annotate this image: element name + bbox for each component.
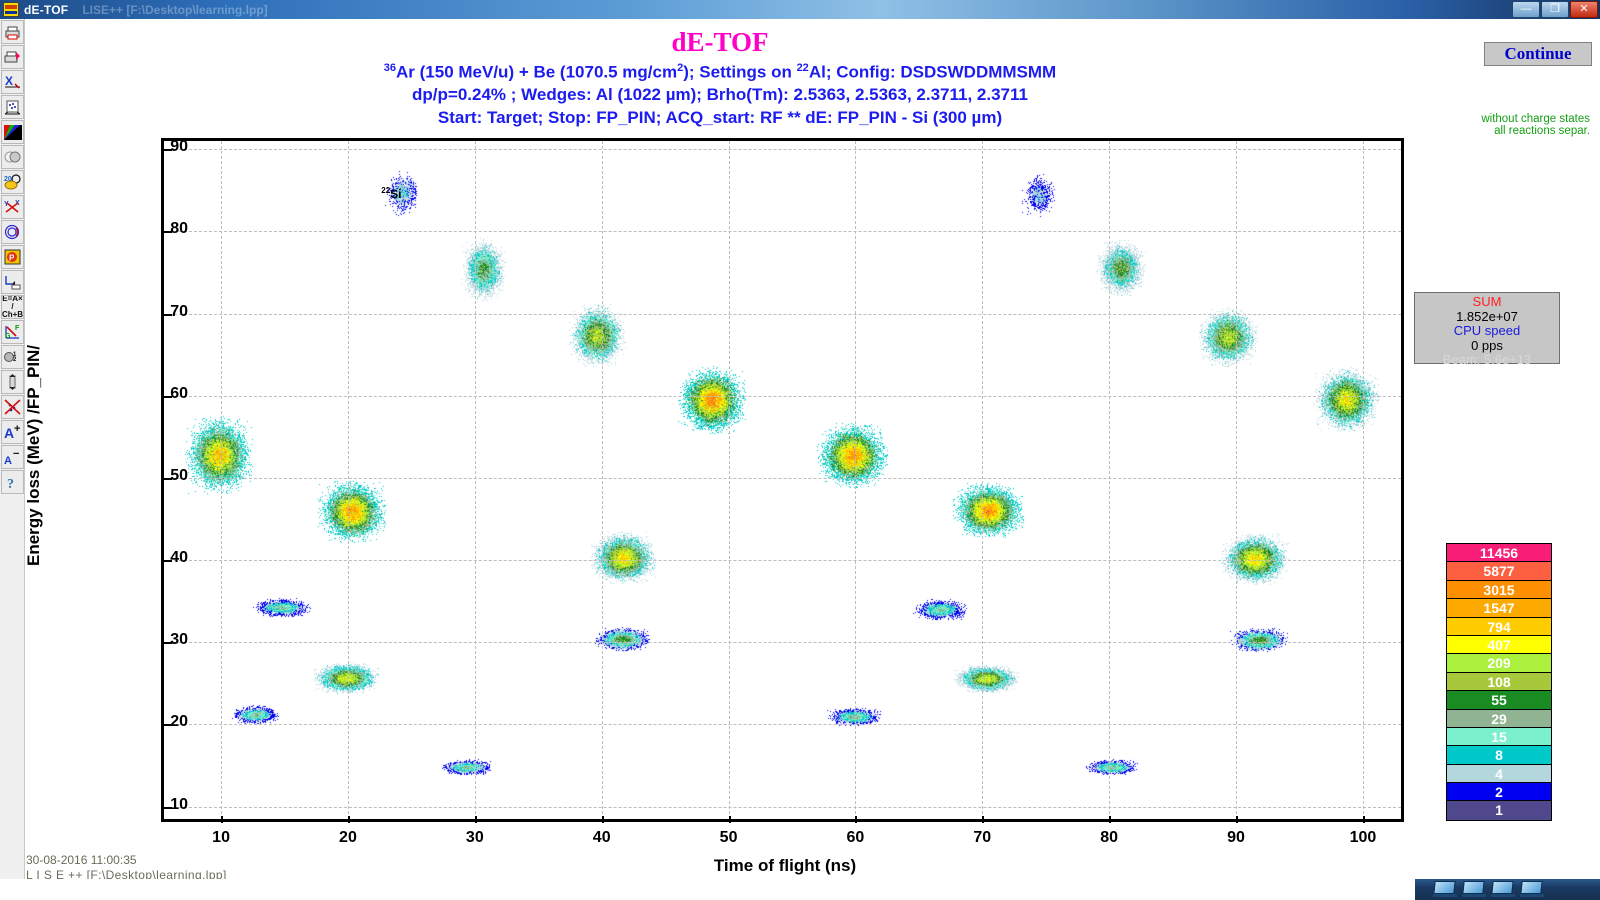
print-icon[interactable] <box>1 20 24 44</box>
maximize-button[interactable]: ❐ <box>1541 1 1569 18</box>
taskbar-blank-area <box>0 879 1415 900</box>
gridline-horizontal <box>164 560 1401 561</box>
y-axis-tick-label: 50 <box>142 467 188 485</box>
isotope-mass-number: 22 <box>381 186 390 195</box>
y-axis-tickmark <box>164 478 172 480</box>
line1-sup-36: 36 <box>384 62 396 74</box>
legend-row[interactable]: 29 <box>1447 710 1551 728</box>
x-axis-tick-label: 20 <box>324 829 372 847</box>
legend-row[interactable]: 4 <box>1447 765 1551 783</box>
legend-value: 15 <box>1491 729 1507 745</box>
y-axis-tickmark <box>164 149 172 151</box>
legend-value: 5877 <box>1483 563 1514 579</box>
y-axis-tick-label: 80 <box>142 220 188 238</box>
header-line-3: Start: Target; Stop: FP_PIN; ACQ_start: … <box>25 108 1415 128</box>
y-axis-tickmark <box>164 231 172 233</box>
legend-row[interactable]: 11456 <box>1447 544 1551 562</box>
legend-row[interactable]: 108 <box>1447 673 1551 691</box>
legend-value: 407 <box>1487 637 1510 653</box>
legend-value: 3015 <box>1483 582 1514 598</box>
lise-plot-window: dE-TOF LISE++ [F:\Desktop\learning.lpp] … <box>0 0 1600 900</box>
log-scale-icon[interactable]: 12 <box>1 345 24 369</box>
x-axis-tickmark <box>729 816 731 823</box>
legend-value: 2 <box>1495 784 1503 800</box>
font-increase-icon[interactable]: A+ <box>1 420 24 444</box>
axis-xy-icon[interactable]: YX <box>1 195 24 219</box>
x-axis-tickmark <box>475 816 477 823</box>
gridline-vertical <box>1109 141 1110 819</box>
y-axis-tickmark <box>164 560 172 562</box>
app-icon <box>3 2 19 17</box>
x-axis-tick-label: 80 <box>1085 829 1133 847</box>
header-line-2: dp/p=0.24% ; Wedges: Al (1022 µm); Brho(… <box>25 85 1415 105</box>
legend-row[interactable]: 1 <box>1447 801 1551 819</box>
line1-text-a: Ar (150 MeV/u) + Be (1070.5 mg/cm <box>396 63 677 82</box>
cpu-speed-value: 0 pps <box>1415 339 1559 354</box>
gridline-horizontal <box>164 807 1401 808</box>
close-plot-icon[interactable]: X <box>1 70 24 94</box>
charge-states-note: without charge states all reactions sepa… <box>1440 113 1590 137</box>
legend-value: 1547 <box>1483 600 1514 616</box>
x-axis-tickmark <box>855 816 857 823</box>
note-line-1: without charge states <box>1440 113 1590 125</box>
x-axis-tickmark <box>1109 816 1111 823</box>
vertical-resize-icon[interactable] <box>1 370 24 394</box>
y-axis-tick-label: 10 <box>142 796 188 814</box>
x-axis-tickmark <box>221 816 223 823</box>
color-scale-legend[interactable]: 114565877301515477944072091085529158421 <box>1446 543 1552 821</box>
x-axis-tickmark <box>602 816 604 823</box>
autoscale-icon[interactable] <box>1 95 24 119</box>
status-timestamp: 30-08-2016 11:00:35 <box>26 853 137 867</box>
x-axis-tickmark <box>1363 816 1365 823</box>
note-line-2: all reactions separ. <box>1440 125 1590 137</box>
legend-row[interactable]: 5877 <box>1447 562 1551 580</box>
header-line-1: 36Ar (150 MeV/u) + Be (1070.5 mg/cm2); S… <box>25 62 1415 83</box>
window-titlebar: dE-TOF LISE++ [F:\Desktop\learning.lpp] … <box>0 0 1600 19</box>
plot-canvas <box>164 141 1401 819</box>
no-points-icon[interactable] <box>1 395 24 419</box>
gridline-vertical <box>1363 141 1364 819</box>
y-axis-tickmark <box>164 314 172 316</box>
equation-icon-label: E=A× / Ch+B <box>2 295 23 319</box>
sum-value: 1.852e+07 <box>1415 310 1559 325</box>
y-axis-tick-label: 70 <box>142 303 188 321</box>
y-axis-label: Energy loss (MeV) /FP_PIN/ <box>24 290 50 620</box>
legend-value: 209 <box>1487 655 1510 671</box>
x-axis-tick-label: 40 <box>578 829 626 847</box>
print-preview-icon[interactable] <box>1 45 24 69</box>
svg-text:G: G <box>5 333 11 340</box>
gridline-vertical <box>729 141 730 819</box>
legend-row[interactable]: 55 <box>1447 691 1551 709</box>
gridline-vertical <box>348 141 349 819</box>
monitor-icon[interactable] <box>1432 880 1458 899</box>
line1-sup-22: 22 <box>797 62 809 74</box>
monitor-icon[interactable] <box>1461 880 1487 899</box>
projection-icon[interactable]: P <box>1 245 24 269</box>
gate-icon[interactable]: GF <box>1 320 24 344</box>
monitor-icon[interactable] <box>1519 880 1545 899</box>
y-axis-tick-label: 20 <box>142 713 188 731</box>
legend-row[interactable]: 407 <box>1447 636 1551 654</box>
gridline-vertical <box>982 141 983 819</box>
legend-row[interactable]: 209 <box>1447 654 1551 672</box>
x-axis-tick-label: 30 <box>451 829 499 847</box>
gridline-horizontal <box>164 396 1401 397</box>
window-ghost-title: LISE++ [F:\Desktop\learning.lpp] <box>82 3 267 17</box>
line1-text-b: ); Settings on <box>683 63 796 82</box>
x-axis-tickmark <box>1236 816 1238 823</box>
legend-row[interactable]: 1547 <box>1447 599 1551 617</box>
gridline-horizontal <box>164 478 1401 479</box>
y-axis-tickmark <box>164 807 172 809</box>
svg-text:−: − <box>13 449 19 460</box>
svg-text:X: X <box>5 74 13 88</box>
taskbar-icons <box>1432 880 1545 899</box>
legend-value: 8 <box>1495 747 1503 763</box>
y-axis-tick-label: 30 <box>142 631 188 649</box>
gridline-vertical <box>855 141 856 819</box>
cpu-speed-label: CPU speed <box>1415 324 1559 339</box>
gridline-vertical <box>221 141 222 819</box>
x-axis-label: Time of flight (ns) <box>505 856 1065 876</box>
scatter-plot-area[interactable]: 22Si <box>161 138 1404 822</box>
color-palette-icon[interactable] <box>1 120 24 144</box>
continue-button[interactable]: Continue <box>1484 42 1592 66</box>
isotope-label: 22Si <box>381 186 401 201</box>
x-axis-tick-label: 90 <box>1212 829 1260 847</box>
legend-row[interactable]: 794 <box>1447 618 1551 636</box>
gridline-horizontal <box>164 642 1401 643</box>
font-decrease-icon[interactable]: A− <box>1 445 24 469</box>
legend-value: 794 <box>1487 619 1510 635</box>
window-title: dE-TOF <box>24 3 68 17</box>
legend-value: 1 <box>1495 802 1503 818</box>
equation-icon[interactable]: E=A× / Ch+B <box>1 295 24 319</box>
close-button[interactable]: ✕ <box>1570 1 1598 18</box>
svg-text:A: A <box>4 425 14 440</box>
y-axis-tickmark <box>164 724 172 726</box>
isotope-icon[interactable]: 20 <box>1 170 24 194</box>
isotope-symbol: Si <box>390 187 401 201</box>
left-toolbar: X 20 YX P E=A× / Ch+B GF <box>0 19 25 879</box>
gridline-vertical <box>1236 141 1237 819</box>
help-icon[interactable]: ? <box>1 470 24 494</box>
gridline-horizontal <box>164 314 1401 315</box>
x-axis-tickmark <box>348 816 350 823</box>
x-axis-tick-label: 50 <box>705 829 753 847</box>
legend-value: 108 <box>1487 674 1510 690</box>
svg-text:P: P <box>9 254 15 263</box>
x-axis-tick-label: 60 <box>831 829 879 847</box>
monitor-icon[interactable] <box>1490 880 1516 899</box>
svg-text:A: A <box>4 455 12 465</box>
minimize-button[interactable]: — <box>1512 1 1540 18</box>
y-axis-tick-label: 90 <box>142 138 188 156</box>
beam-value: Beam: 5.6e+13 <box>1415 353 1559 368</box>
legend-row[interactable]: 8 <box>1447 746 1551 764</box>
page-title: dE-TOF <box>25 27 1415 58</box>
legend-row[interactable]: 3015 <box>1447 581 1551 599</box>
line1-text-c: Al; Config: DSDSWDDMMSMM <box>809 63 1056 82</box>
gridline-vertical <box>602 141 603 819</box>
taskbar <box>0 879 1600 900</box>
grayscale-icon[interactable] <box>1 145 24 169</box>
plot-header: dE-TOF 36Ar (150 MeV/u) + Be (1070.5 mg/… <box>25 19 1600 134</box>
gridline-vertical <box>475 141 476 819</box>
x-axis-tick-label: 10 <box>197 829 245 847</box>
window-controls: — ❐ ✕ <box>1511 1 1598 18</box>
legend-value: 29 <box>1491 711 1507 727</box>
gridline-horizontal <box>164 149 1401 150</box>
x-axis-tick-label: 70 <box>958 829 1006 847</box>
svg-text:2: 2 <box>13 357 17 363</box>
selection-icon[interactable] <box>1 270 24 294</box>
x-axis-tickmark <box>982 816 984 823</box>
legend-row[interactable]: 15 <box>1447 728 1551 746</box>
sum-label: SUM <box>1415 295 1559 310</box>
y-axis-tick-label: 60 <box>142 385 188 403</box>
y-axis-tickmark <box>164 396 172 398</box>
legend-value: 4 <box>1495 766 1503 782</box>
legend-value: 55 <box>1491 692 1507 708</box>
gridline-horizontal <box>164 231 1401 232</box>
y-axis-tickmark <box>164 642 172 644</box>
x-axis-tick-label: 100 <box>1339 829 1387 847</box>
y-axis-tick-label: 40 <box>142 549 188 567</box>
gridline-horizontal <box>164 724 1401 725</box>
statistics-box: SUM 1.852e+07 CPU speed 0 pps Beam: 5.6e… <box>1414 292 1560 364</box>
legend-row[interactable]: 2 <box>1447 783 1551 801</box>
legend-value: 11456 <box>1480 545 1518 561</box>
svg-text:F: F <box>15 325 20 332</box>
svg-text:+: + <box>14 424 20 435</box>
svg-text:?: ? <box>7 477 14 490</box>
contour-icon[interactable] <box>1 220 24 244</box>
